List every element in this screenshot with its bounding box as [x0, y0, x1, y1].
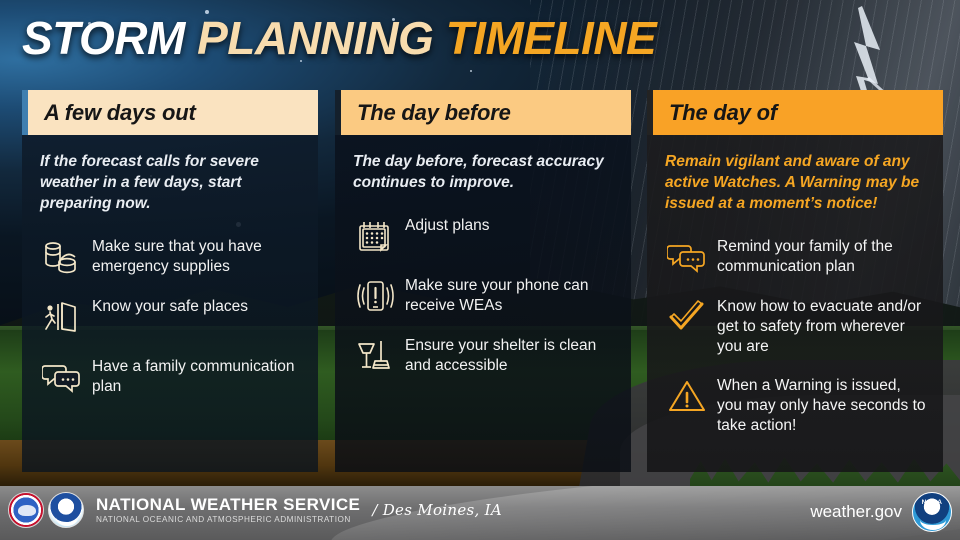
- list-item-label: Ensure your shelter is clean and accessi…: [405, 335, 615, 376]
- list-item-label: Make sure your phone can receive WEAs: [405, 275, 615, 316]
- list-item: Have a family communication plan: [40, 356, 302, 398]
- agency-parent-name: NATIONAL OCEANIC AND ATMOSPHERIC ADMINIS…: [96, 514, 360, 526]
- card-body-1: If the forecast calls for severe weather…: [22, 135, 318, 472]
- card-header-2: The day before: [335, 90, 631, 135]
- list-item: When a Warning is issued, you may only h…: [665, 375, 927, 436]
- list-item-label: Adjust plans: [405, 215, 489, 236]
- website-link[interactable]: weather.gov: [810, 502, 902, 522]
- card-heading-2: The day before: [357, 100, 511, 126]
- footer-bar: NATIONAL WEATHER SERVICE NATIONAL OCEANI…: [0, 486, 960, 540]
- card-a-few-days-out: A few days out If the forecast calls for…: [22, 90, 318, 472]
- title-word-planning: PLANNING: [197, 12, 433, 64]
- list-item-label: Remind your family of the communication …: [717, 236, 927, 277]
- card-heading-3: The day of: [669, 100, 777, 126]
- card-header-1: A few days out: [22, 90, 318, 135]
- card-intro-2: The day before, forecast accuracy contin…: [353, 151, 615, 193]
- noaa-seal-icon: [48, 492, 84, 528]
- card-intro-1: If the forecast calls for severe weather…: [40, 151, 302, 214]
- card-header-3: The day of: [647, 90, 943, 135]
- list-item-label: Have a family communication plan: [92, 356, 302, 397]
- noaa-logo-label: NOAA: [913, 499, 951, 506]
- list-item: Know your safe places: [40, 296, 302, 338]
- card-body-2: The day before, forecast accuracy contin…: [335, 135, 631, 472]
- title-word-storm: STORM: [22, 12, 185, 64]
- office-label: / Des Moines, IA: [372, 501, 502, 519]
- agency-name: NATIONAL WEATHER SERVICE: [96, 495, 360, 514]
- list-item-label: Know how to evacuate and/or get to safet…: [717, 296, 927, 357]
- footer-left: NATIONAL WEATHER SERVICE NATIONAL OCEANI…: [8, 492, 502, 528]
- card-intro-3: Remain vigilant and aware of any active …: [665, 151, 927, 214]
- calendar-icon: [353, 215, 397, 257]
- card-body-3: Remain vigilant and aware of any active …: [647, 135, 943, 472]
- list-item: Know how to evacuate and/or get to safet…: [665, 296, 927, 357]
- warning-triangle-icon: [665, 375, 709, 417]
- list-item: Remind your family of the communication …: [665, 236, 927, 278]
- person-exit-door-icon: [40, 296, 84, 338]
- title-word-timeline: TIMELINE: [446, 12, 657, 64]
- bullet-list-2: Adjust plans: [353, 215, 615, 395]
- footer-right: weather.gov NOAA: [810, 492, 952, 532]
- list-item-label: Make sure that you have emergency suppli…: [92, 236, 302, 277]
- list-item: Make sure your phone can receive WEAs: [353, 275, 615, 317]
- bullet-list-1: Make sure that you have emergency suppli…: [40, 236, 302, 416]
- list-item: Adjust plans: [353, 215, 615, 257]
- list-item-label: Know your safe places: [92, 296, 248, 317]
- bullet-list-3: Remind your family of the communication …: [665, 236, 927, 454]
- speech-bubbles-icon: [665, 236, 709, 278]
- card-the-day-of: The day of Remain vigilant and aware of …: [647, 90, 943, 472]
- list-item-label: When a Warning is issued, you may only h…: [717, 375, 927, 436]
- list-item: Ensure your shelter is clean and accessi…: [353, 335, 615, 377]
- card-the-day-before: The day before The day before, forecast …: [335, 90, 631, 472]
- checkmark-icon: [665, 296, 709, 338]
- infographic-canvas: STORM PLANNING TIMELINE A few days out I…: [0, 0, 960, 540]
- phone-alert-icon: [353, 275, 397, 317]
- dustpan-broom-icon: [353, 335, 397, 377]
- speech-bubbles-icon: [40, 356, 84, 398]
- list-item: Make sure that you have emergency suppli…: [40, 236, 302, 278]
- card-heading-1: A few days out: [44, 100, 196, 126]
- page-title: STORM PLANNING TIMELINE: [22, 10, 822, 66]
- agency-names: NATIONAL WEATHER SERVICE NATIONAL OCEANI…: [96, 495, 360, 526]
- nws-seal-icon: [8, 492, 44, 528]
- canned-supplies-icon: [40, 236, 84, 278]
- noaa-logo-icon: NOAA: [912, 492, 952, 532]
